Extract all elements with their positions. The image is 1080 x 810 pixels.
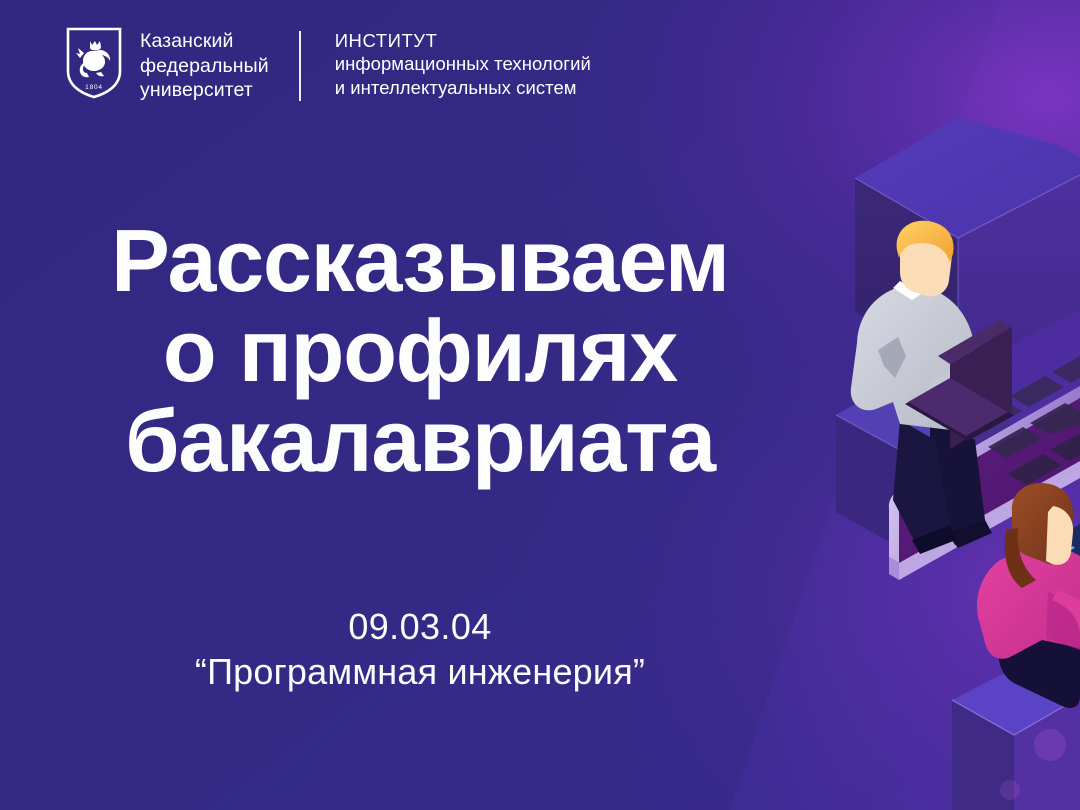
institute-heading: ИНСТИТУТ — [335, 29, 591, 52]
presentation-slide: 1804 Казанский федеральный университет И… — [0, 0, 1080, 810]
subtitle-area: 09.03.04 “Программная инженерия” — [0, 606, 840, 694]
logo-divider — [299, 31, 301, 101]
title-area: Рассказываем о профилях бакалавриата — [0, 216, 840, 485]
device-screen — [1052, 524, 1080, 624]
woman-at-keyboard — [977, 483, 1080, 708]
giant-device-keyboard — [889, 356, 1080, 624]
svg-text:1804: 1804 — [85, 84, 103, 91]
program-name: “Программная инженерия” — [0, 650, 840, 693]
university-name: Казанский федеральный университет — [140, 27, 269, 103]
logo-lockup: 1804 Казанский федеральный университет И… — [66, 27, 591, 105]
program-code: 09.03.04 — [0, 606, 840, 648]
kfu-shield-zilant-emblem: 1804 — [66, 27, 122, 99]
page-title: Рассказываем о профилях бакалавриата — [0, 216, 840, 485]
cube-bottom-far-right — [1040, 610, 1080, 676]
cube-bottom-right — [952, 666, 1080, 810]
pedestal-block-left — [836, 365, 1010, 560]
cube-top-right — [855, 118, 1080, 372]
institute-block: ИНСТИТУТ информационных технологий и инт… — [335, 27, 591, 99]
keyboard-keys — [968, 356, 1080, 485]
institute-name: информационных технологий и интеллектуал… — [335, 52, 591, 99]
man-with-laptop — [851, 221, 1014, 554]
